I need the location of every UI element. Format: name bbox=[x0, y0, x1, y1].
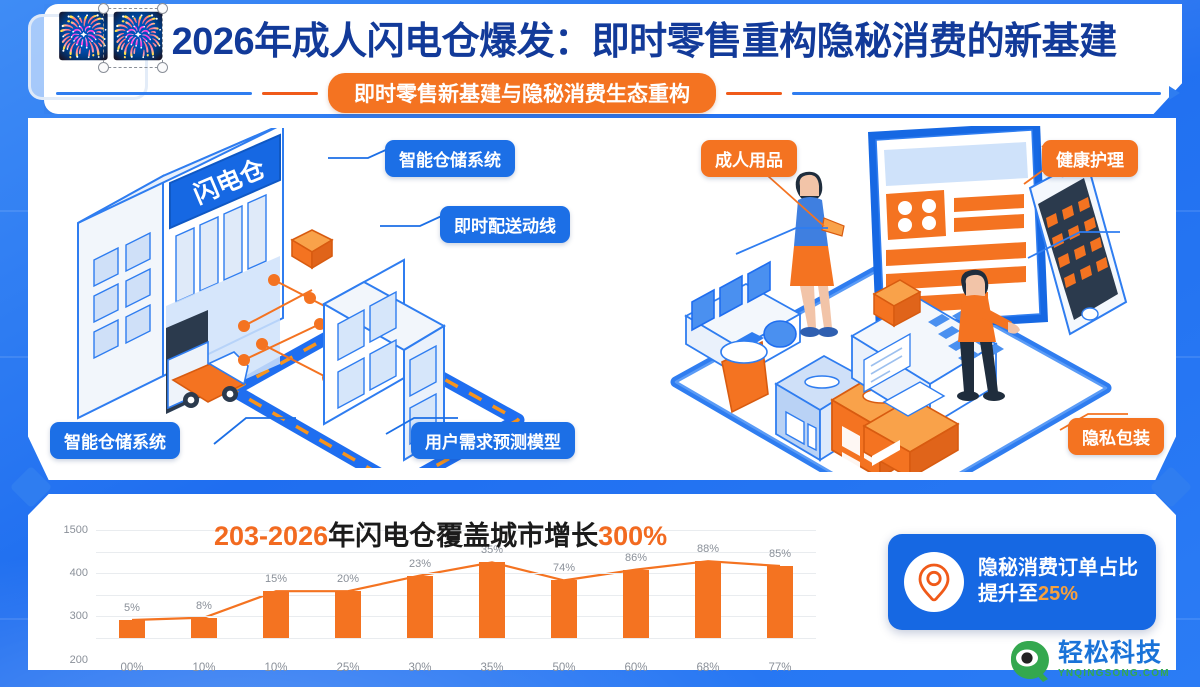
label-health-care: 健康护理 bbox=[1042, 140, 1138, 177]
chart-bar bbox=[551, 580, 577, 638]
chart-value-label: 85% bbox=[769, 548, 791, 560]
fireworks-emoji-group[interactable]: 🎆 🎆 bbox=[56, 6, 166, 68]
chart-x-tick: 10% bbox=[192, 662, 215, 674]
decor-line-blue-left bbox=[56, 92, 252, 95]
stat-line-2-number: 25% bbox=[1038, 583, 1078, 605]
chart-x-tick: 77% bbox=[768, 662, 791, 674]
chart-bar bbox=[263, 591, 289, 638]
chart-y-tick: 300 bbox=[70, 610, 88, 622]
chart-x-tick: 10% bbox=[264, 662, 287, 674]
chart-value-label: 23% bbox=[409, 558, 431, 570]
chart-value-label: 74% bbox=[553, 562, 575, 574]
label-adult-products: 成人用品 bbox=[701, 140, 797, 177]
decor-arrow-right-icon bbox=[1169, 86, 1180, 100]
chart-x-tick: 50% bbox=[552, 662, 575, 674]
chart-title: 203-2026年闪电仓覆盖城市增长300% bbox=[214, 514, 667, 553]
label-privacy-packaging: 隐私包装 bbox=[1068, 418, 1164, 455]
chart-y-tick: 1500 bbox=[64, 524, 88, 536]
chart-bar bbox=[479, 562, 505, 638]
chart-bar bbox=[695, 561, 721, 638]
watermark-en: YNQINGSONG.COM bbox=[1058, 669, 1170, 679]
subtitle-row: 即时零售新基建与隐秘消费生态重构 bbox=[56, 76, 1180, 110]
chart-bar bbox=[191, 618, 217, 638]
decor-line-orange-left bbox=[262, 92, 318, 95]
stat-card-text: 隐秘消费订单占比 提升至25% bbox=[978, 556, 1138, 607]
chart-title-years: 203-2026 bbox=[214, 521, 328, 551]
resize-handle-bottom-right[interactable] bbox=[157, 62, 168, 73]
chart-y-tick: 400 bbox=[70, 567, 88, 579]
title-row: 🎆 🎆 2026年成人闪电仓爆发：即时零售重构隐秘消费的新基建 bbox=[56, 6, 1176, 68]
watermark-cn: 轻松科技 bbox=[1058, 641, 1170, 666]
eye-magnifier-icon bbox=[1008, 638, 1052, 682]
chart-value-label: 88% bbox=[697, 543, 719, 555]
page-title: 2026年成人闪电仓爆发：即时零售重构隐秘消费的新基建 bbox=[172, 10, 1117, 65]
chart-gridline: 0 bbox=[96, 638, 816, 639]
chart-bar bbox=[335, 591, 361, 638]
resize-handle-top-left[interactable] bbox=[98, 3, 109, 14]
label-smart-warehouse-top: 智能仓储系统 bbox=[385, 140, 515, 177]
chart-x-tick: 25% bbox=[336, 662, 359, 674]
chart-bar bbox=[119, 620, 145, 638]
label-instant-delivery-route: 即时配送动线 bbox=[440, 206, 570, 243]
location-pin-icon bbox=[904, 552, 964, 612]
chart-x-tick: 68% bbox=[696, 662, 719, 674]
label-demand-forecast-model: 用户需求预测模型 bbox=[411, 422, 575, 459]
chart-value-label: 15% bbox=[265, 573, 287, 585]
chart-bar bbox=[767, 566, 793, 638]
chart-bar bbox=[623, 570, 649, 638]
chart-value-label: 86% bbox=[625, 552, 647, 564]
stat-line-2-prefix: 提升至 bbox=[978, 583, 1038, 605]
watermark-logo: 轻松科技 YNQINGSONG.COM bbox=[1008, 638, 1170, 682]
resize-handle-bottom-left[interactable] bbox=[98, 62, 109, 73]
label-smart-warehouse-bottom: 智能仓储系统 bbox=[50, 422, 180, 459]
chart-x-tick: 30% bbox=[408, 662, 431, 674]
subtitle-pill: 即时零售新基建与隐秘消费生态重构 bbox=[328, 73, 716, 113]
stat-line-1: 隐秘消费订单占比 bbox=[978, 556, 1138, 582]
header: 🎆 🎆 2026年成人闪电仓爆发：即时零售重构隐秘消费的新基建 即时零售新基建与… bbox=[0, 0, 1200, 118]
chart-x-tick: 35% bbox=[480, 662, 503, 674]
decor-line-orange-right bbox=[726, 92, 782, 95]
chart-value-label: 20% bbox=[337, 573, 359, 585]
chart-value-label: 5% bbox=[124, 602, 140, 614]
chart-title-mid: 年闪电仓覆盖城市增长 bbox=[328, 521, 598, 551]
chart-value-label: 8% bbox=[196, 600, 212, 612]
chart-title-growth: 300% bbox=[598, 521, 667, 551]
chart-trend-line bbox=[132, 561, 780, 620]
decor-line-blue-right bbox=[792, 92, 1161, 95]
growth-chart: 203-2026年闪电仓覆盖城市增长300% 15004003002001000… bbox=[34, 512, 834, 670]
chart-x-tick: 00% bbox=[120, 662, 143, 674]
resize-handle-top-right[interactable] bbox=[157, 3, 168, 14]
illustration-panel: 闪电仓 bbox=[28, 118, 1176, 480]
chart-y-tick: 200 bbox=[70, 654, 88, 666]
stat-card: 隐秘消费订单占比 提升至25% bbox=[888, 534, 1156, 630]
stat-line-2: 提升至25% bbox=[978, 582, 1138, 608]
chart-bar bbox=[407, 576, 433, 638]
chart-x-tick: 60% bbox=[624, 662, 647, 674]
selection-bounding-box[interactable] bbox=[103, 8, 163, 68]
